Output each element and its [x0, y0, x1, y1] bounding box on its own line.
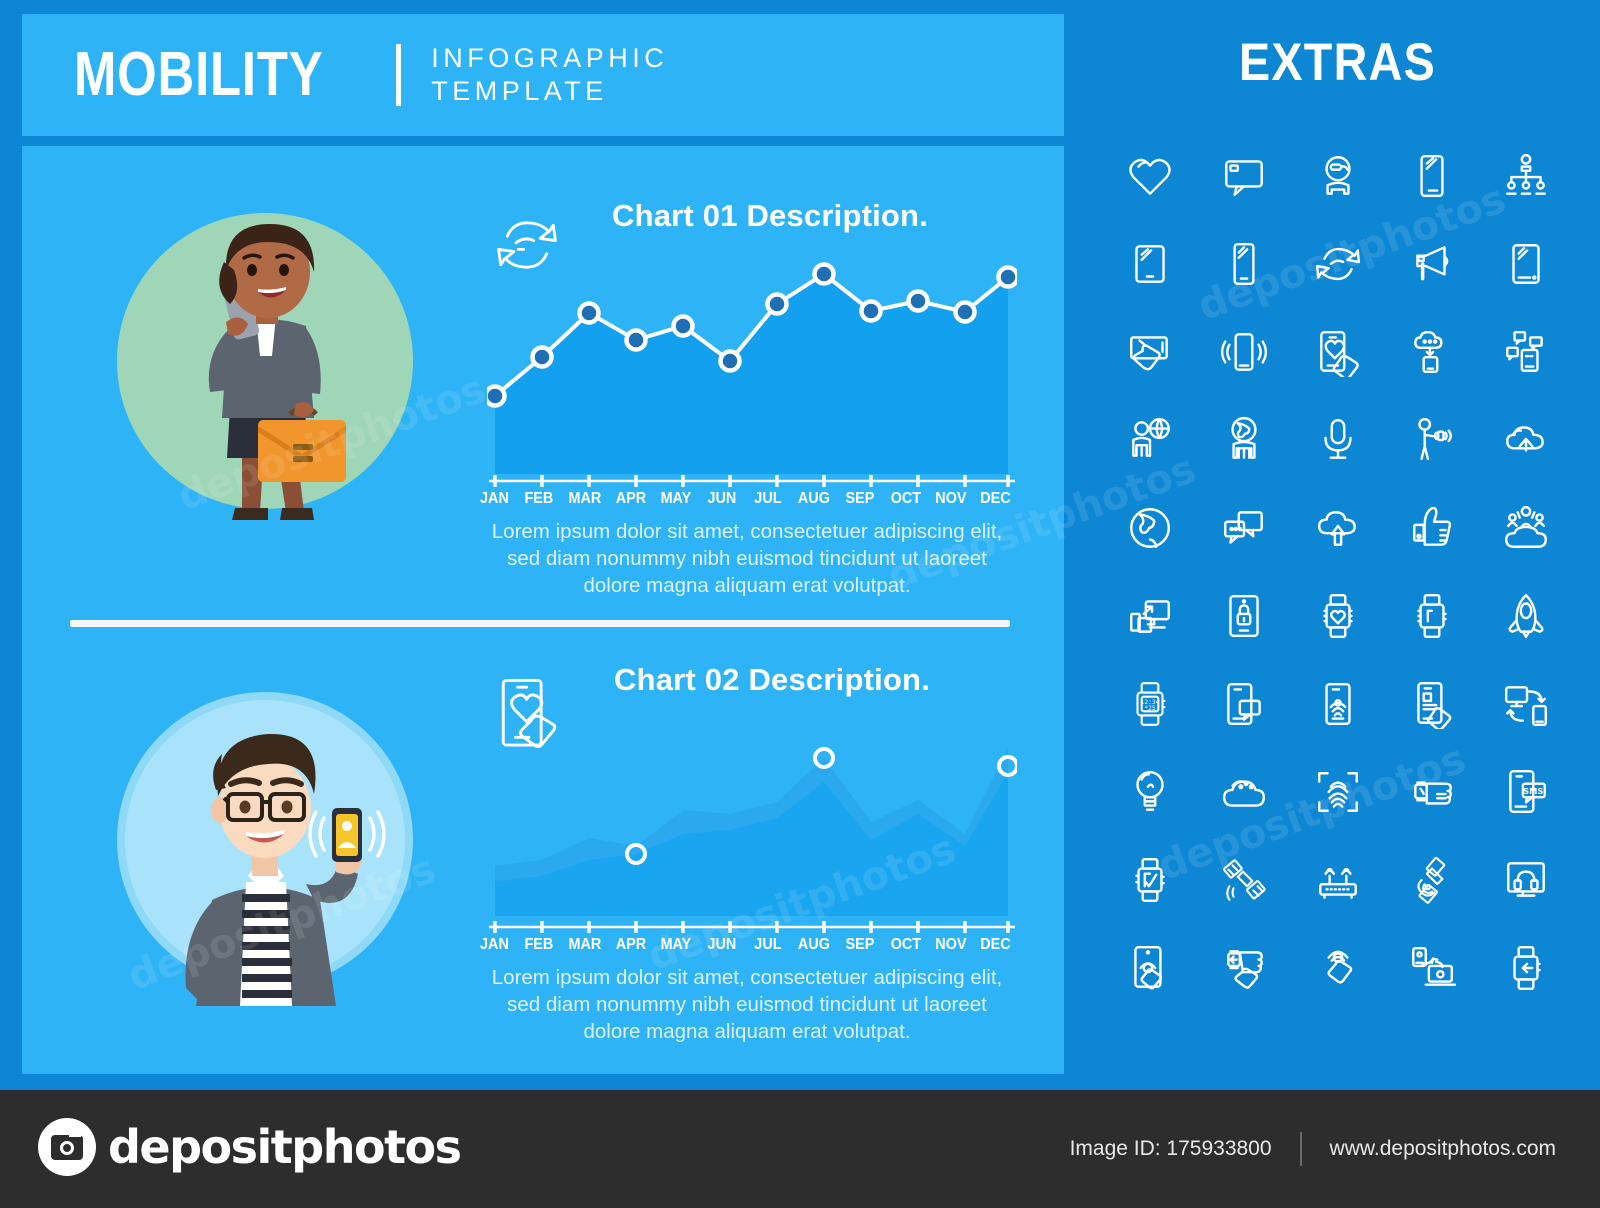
smartwatch-time-icon[interactable]: 12:34*25: [1103, 660, 1197, 748]
phone-message-icon[interactable]: [1197, 660, 1291, 748]
axis-tick-feb: FEB: [518, 490, 559, 508]
axis-tick-mar: MAR: [564, 490, 605, 508]
axis2-tick-jul: JUL: [747, 936, 788, 954]
axis-tick-dec: DEC: [976, 490, 1015, 508]
support-agent-icon[interactable]: [1291, 132, 1385, 220]
tablet-lock-icon[interactable]: [1197, 572, 1291, 660]
svg-text:SMS: SMS: [1523, 786, 1543, 796]
megaphone-icon[interactable]: [1385, 220, 1479, 308]
team-cloud-icon[interactable]: [1479, 484, 1573, 572]
satellite-icon[interactable]: [1197, 836, 1291, 924]
axis-tick-apr: APR: [610, 490, 651, 508]
satellite-signal-icon[interactable]: [1385, 836, 1479, 924]
footer-bar: depositphotos Image ID: 175933800 www.de…: [0, 1090, 1600, 1208]
poster-main: MOBILITY INFOGRAPHIC TEMPLATE: [0, 0, 1075, 1090]
chat-network-icon[interactable]: [1479, 308, 1573, 396]
chart-02-axis: JAN FEB MAR APR MAY JUN JUL AUG SEP OCT …: [487, 918, 1017, 952]
illustration-businesswoman: [100, 196, 430, 526]
axis-tick-oct: OCT: [885, 490, 926, 508]
svg-text:*25: *25: [1144, 705, 1156, 712]
website-link[interactable]: www.depositphotos.com: [1330, 1137, 1556, 1161]
devices-sync-icon[interactable]: [1103, 572, 1197, 660]
chart-01-axis: JAN FEB MAR APR MAY JUN JUL AUG SEP OCT …: [487, 472, 1017, 506]
phone-wifi-icon[interactable]: [1291, 660, 1385, 748]
infographic-poster: MOBILITY INFOGRAPHIC TEMPLATE: [0, 0, 1600, 1208]
cloud-network-icon[interactable]: [1197, 748, 1291, 836]
phone-heart-tap-icon[interactable]: [1291, 308, 1385, 396]
headphones-screen-icon[interactable]: [1479, 836, 1573, 924]
chart-01-description: Lorem ipsum dolor sit amet, consectetuer…: [487, 518, 1007, 599]
smartwatch-arrow-icon[interactable]: [1479, 924, 1573, 1012]
fingerprint-scan-icon[interactable]: [1291, 748, 1385, 836]
sync-arrows-icon[interactable]: [1291, 220, 1385, 308]
microphone-icon[interactable]: [1291, 396, 1385, 484]
thumbs-up-icon[interactable]: [1385, 484, 1479, 572]
axis2-tick-aug: AUG: [793, 936, 834, 954]
tap-gesture-icon[interactable]: [1291, 924, 1385, 1012]
person-globe-icon[interactable]: [1103, 396, 1197, 484]
screen-phone-sync-icon[interactable]: [1479, 660, 1573, 748]
axis2-tick-feb: FEB: [518, 936, 559, 954]
illustration-man-with-phone: [100, 668, 430, 1008]
page-title: MOBILITY: [74, 44, 323, 106]
rocket-icon[interactable]: [1479, 572, 1573, 660]
smartphone-icon[interactable]: [1385, 132, 1479, 220]
icon-grid: 12:34*25 SMS: [1103, 132, 1573, 1012]
wrist-hand-arrow-icon[interactable]: [1197, 924, 1291, 1012]
axis-tick-nov: NOV: [931, 490, 972, 508]
axis2-tick-jan: JAN: [475, 936, 514, 954]
axis2-tick-mar: MAR: [564, 936, 605, 954]
footer-separator: [1300, 1132, 1302, 1166]
sms-phone-icon[interactable]: SMS: [1479, 748, 1573, 836]
org-chart-icon[interactable]: [1479, 132, 1573, 220]
axis2-tick-nov: NOV: [931, 936, 972, 954]
axis2-tick-apr: APR: [610, 936, 651, 954]
cloud-sync-icon[interactable]: [1479, 396, 1573, 484]
title-subtitle: INFOGRAPHIC TEMPLATE: [431, 42, 668, 108]
tablet-screen-icon[interactable]: [1479, 220, 1573, 308]
phone-laptop-sync-icon[interactable]: [1385, 924, 1479, 1012]
globe-icon[interactable]: [1103, 484, 1197, 572]
phone-tap-list-icon[interactable]: [1385, 660, 1479, 748]
subtitle-line-1: INFOGRAPHIC: [431, 42, 668, 75]
header-band: MOBILITY INFOGRAPHIC TEMPLATE: [22, 14, 1064, 136]
cloud-download-phone-icon[interactable]: [1385, 308, 1479, 396]
camera-icon: [38, 1118, 96, 1176]
brand-name: depositphotos: [108, 1120, 461, 1174]
chart-02-description: Lorem ipsum dolor sit amet, consectetuer…: [487, 964, 1007, 1045]
axis2-tick-sep: SEP: [839, 936, 880, 954]
axis2-tick-jun: JUN: [701, 936, 742, 954]
depositphotos-logo: depositphotos: [38, 1118, 461, 1176]
chart-02-title: Chart 02 Description.: [614, 662, 1034, 698]
axis-tick-sep: SEP: [839, 490, 880, 508]
chat-bubble-icon[interactable]: [1197, 132, 1291, 220]
chart-01-title: Chart 01 Description.: [612, 198, 1032, 234]
axis2-tick-dec: DEC: [976, 936, 1015, 954]
tablet-icon[interactable]: [1103, 220, 1197, 308]
chart-02-plot: [487, 718, 1017, 918]
lightbulb-icon[interactable]: [1103, 748, 1197, 836]
axis-tick-jul: JUL: [747, 490, 788, 508]
axis2-tick-oct: OCT: [885, 936, 926, 954]
subtitle-line-2: TEMPLATE: [431, 75, 668, 108]
footer-meta: Image ID: 175933800 www.depositphotos.co…: [1070, 1090, 1556, 1208]
wrist-watch-hand-icon[interactable]: [1385, 748, 1479, 836]
person-signal-icon[interactable]: [1385, 396, 1479, 484]
axis-tick-may: MAY: [656, 490, 697, 508]
globe-person-icon[interactable]: [1197, 396, 1291, 484]
extras-title: EXTRAS: [1107, 32, 1569, 93]
chart-01-plot: [487, 250, 1017, 478]
tap-phone-icon[interactable]: [1103, 924, 1197, 1012]
phone-vibrate-icon[interactable]: [1197, 308, 1291, 396]
cloud-upload-icon[interactable]: [1291, 484, 1385, 572]
tap-screen-icon[interactable]: [1103, 308, 1197, 396]
smartwatch-check-icon[interactable]: [1103, 836, 1197, 924]
section-divider: [70, 620, 1010, 627]
smartwatch-icon[interactable]: [1385, 572, 1479, 660]
wifi-router-icon[interactable]: [1291, 836, 1385, 924]
title-divider: [396, 44, 401, 106]
axis2-tick-may: MAY: [656, 936, 697, 954]
chat-bubbles-icon[interactable]: [1197, 484, 1291, 572]
axis-tick-jan: JAN: [475, 490, 514, 508]
extras-panel: EXTRAS: [1075, 0, 1600, 1090]
axis-tick-aug: AUG: [793, 490, 834, 508]
smartwatch-heart-icon[interactable]: [1291, 572, 1385, 660]
smartphone-outline-icon[interactable]: [1197, 220, 1291, 308]
image-id-label: Image ID: 175933800: [1070, 1137, 1272, 1161]
heart-icon[interactable]: [1103, 132, 1197, 220]
axis-tick-jun: JUN: [701, 490, 742, 508]
